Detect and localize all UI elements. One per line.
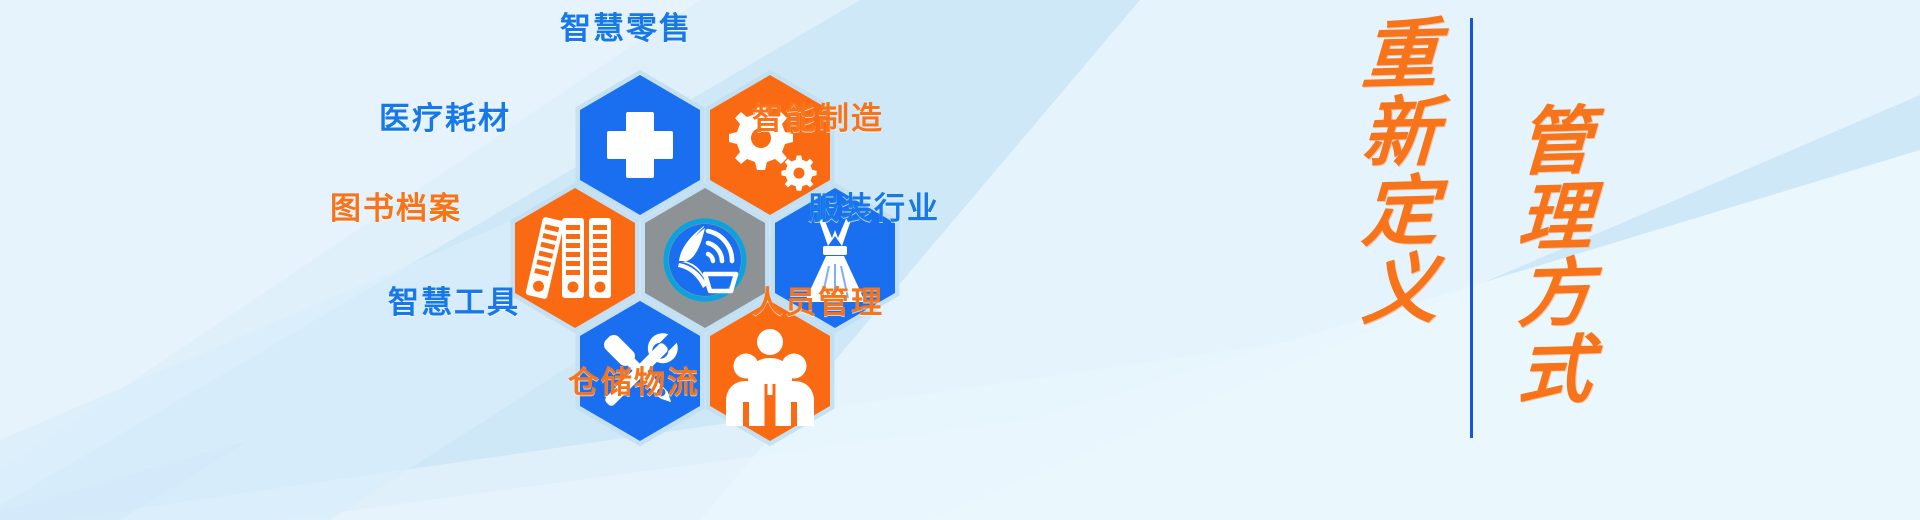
calligraphy-char: 方 bbox=[1516, 255, 1593, 333]
calligraphy-char: 定 bbox=[1360, 172, 1440, 252]
background-graphic bbox=[0, 0, 1920, 520]
calligraphy-char: 新 bbox=[1360, 93, 1440, 173]
label-tools: 智慧工具 bbox=[388, 288, 520, 319]
banner-root: 智慧零售 医疗耗材 智能制造 图书档案 服装行业 智慧工具 人员管理 仓储物流 … bbox=[0, 0, 1920, 520]
label-manufacturing: 智能制造 bbox=[752, 104, 884, 135]
calligraphy-column-right: 管 理 方 式 bbox=[1495, 0, 1615, 409]
calligraphy-char: 管 bbox=[1516, 103, 1593, 181]
calligraphy-char: 义 bbox=[1360, 250, 1440, 330]
calligraphy-char: 理 bbox=[1516, 179, 1593, 257]
calligraphy-divider bbox=[1470, 18, 1473, 438]
label-warehouse: 仓储物流 bbox=[568, 368, 700, 399]
calligraphy-column-left: 重 新 定 义 bbox=[1340, 0, 1460, 329]
calligraphy-char: 重 bbox=[1360, 15, 1440, 95]
label-retail: 智慧零售 bbox=[560, 14, 692, 45]
label-medical: 医疗耗材 bbox=[379, 104, 511, 135]
label-books: 图书档案 bbox=[330, 194, 462, 225]
label-staff: 人员管理 bbox=[752, 288, 884, 319]
label-apparel: 服装行业 bbox=[808, 194, 940, 225]
calligraphy-block: 重 新 定 义 管 理 方 式 bbox=[1330, 0, 1630, 440]
calligraphy-char: 式 bbox=[1516, 332, 1593, 410]
